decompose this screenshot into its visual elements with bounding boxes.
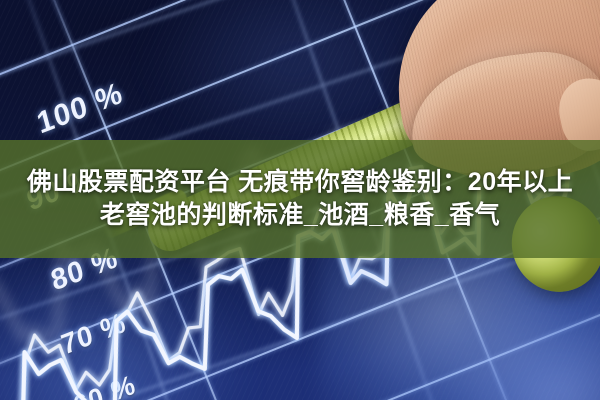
headline-line-1: 佛山股票配资平台 无痕带你窖龄鉴别：20年以上	[27, 168, 573, 198]
screenshot-canvas: 100 % 90 % 80 % 70 % 60 % 佛山股票配资平台 无痕带你窖…	[0, 0, 600, 400]
headline-line-2: 老窖池的判断标准_池酒_粮香_香气	[100, 201, 500, 231]
headline: 佛山股票配资平台 无痕带你窖龄鉴别：20年以上 老窖池的判断标准_池酒_粮香_香…	[0, 140, 600, 258]
